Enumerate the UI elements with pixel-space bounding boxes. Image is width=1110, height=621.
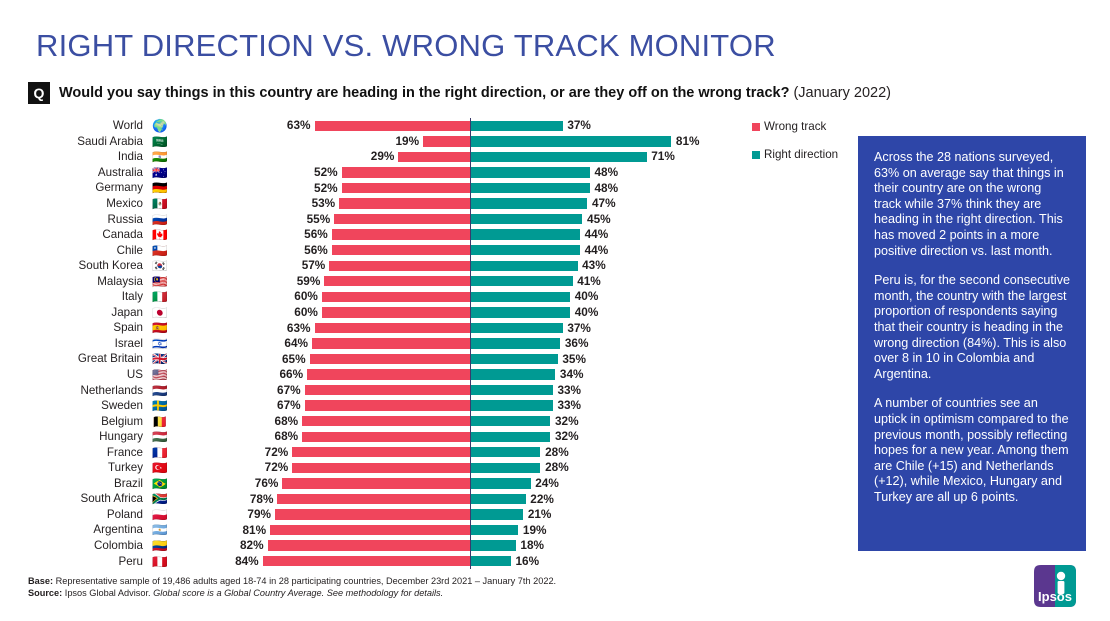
- country-flag-icon: 🇹🇷: [149, 461, 171, 474]
- country-flag-icon: 🇯🇵: [149, 306, 171, 319]
- legend-label: Wrong track: [764, 120, 826, 134]
- row-plot: 68%32%: [171, 413, 745, 429]
- right-direction-value: 40%: [575, 289, 599, 303]
- svg-text:Ipsos: Ipsos: [1038, 589, 1072, 604]
- country-flag-icon: 🇮🇳: [149, 150, 171, 163]
- footer-source-text: Ipsos Global Advisor.: [62, 588, 153, 598]
- country-label: Belgium: [0, 415, 149, 428]
- right-direction-value: 35%: [562, 352, 586, 366]
- country-flag-icon: 🇨🇦: [149, 228, 171, 241]
- chart-row: Japan🇯🇵60%40%: [0, 305, 745, 321]
- right-direction-bar: [471, 369, 555, 379]
- chart-row: Sweden🇸🇪67%33%: [0, 398, 745, 414]
- country-flag-icon: 🇦🇷: [149, 523, 171, 536]
- chart-row: Malaysia🇲🇾59%41%: [0, 273, 745, 289]
- row-plot: 52%48%: [171, 180, 745, 196]
- country-label: Chile: [0, 244, 149, 257]
- center-axis-line: [470, 507, 471, 523]
- chart-row: Chile🇨🇱56%44%: [0, 242, 745, 258]
- center-axis-line: [470, 149, 471, 165]
- wrong-track-bar: [324, 276, 470, 286]
- right-direction-value: 16%: [515, 554, 539, 568]
- row-plot: 68%32%: [171, 429, 745, 445]
- right-direction-value: 47%: [592, 196, 616, 210]
- country-label: Canada: [0, 228, 149, 241]
- right-direction-bar: [471, 167, 589, 177]
- country-flag-icon: 🇫🇷: [149, 446, 171, 459]
- country-flag-icon: 🇮🇱: [149, 337, 171, 350]
- center-axis-line: [470, 180, 471, 196]
- right-direction-bar: [471, 183, 589, 193]
- wrong-track-value: 68%: [264, 414, 298, 428]
- wrong-track-value: 79%: [237, 507, 271, 521]
- page-title: RIGHT DIRECTION VS. WRONG TRACK MONITOR: [36, 28, 776, 64]
- ipsos-logo: Ipsos: [1030, 562, 1080, 612]
- teal-square-icon: [752, 151, 760, 159]
- wrong-track-bar: [322, 292, 470, 302]
- center-axis-line: [470, 553, 471, 569]
- chart-row: Netherlands🇳🇱67%33%: [0, 382, 745, 398]
- country-flag-icon: 🇭🇺: [149, 430, 171, 443]
- wrong-track-value: 81%: [232, 523, 266, 537]
- chart-row: Italy🇮🇹60%40%: [0, 289, 745, 305]
- chart-row: Australia🇦🇺52%48%: [0, 165, 745, 181]
- question-row: Q Would you say things in this country a…: [28, 82, 891, 104]
- legend-item[interactable]: Right direction: [752, 148, 847, 162]
- right-direction-bar: [471, 509, 523, 519]
- country-label: India: [0, 150, 149, 163]
- center-axis-line: [470, 413, 471, 429]
- country-label: Israel: [0, 337, 149, 350]
- commentary-paragraph: A number of countries see an uptick in o…: [874, 396, 1070, 505]
- chart-row: Hungary🇭🇺68%32%: [0, 429, 745, 445]
- country-label: Russia: [0, 213, 149, 226]
- slide-root: RIGHT DIRECTION VS. WRONG TRACK MONITOR …: [0, 0, 1110, 621]
- row-plot: 53%47%: [171, 196, 745, 212]
- right-direction-value: 21%: [528, 507, 552, 521]
- center-axis-line: [470, 273, 471, 289]
- wrong-track-value: 60%: [284, 289, 318, 303]
- wrong-track-bar: [263, 556, 470, 566]
- wrong-track-bar: [307, 369, 470, 379]
- country-label: Mexico: [0, 197, 149, 210]
- country-label: Italy: [0, 290, 149, 303]
- right-direction-value: 48%: [594, 181, 618, 195]
- center-axis-line: [470, 165, 471, 181]
- chart-row: Poland🇵🇱79%21%: [0, 507, 745, 523]
- chart-legend: Wrong trackRight direction: [752, 120, 847, 175]
- commentary-panel: Across the 28 nations surveyed, 63% on a…: [858, 136, 1086, 551]
- row-plot: 67%33%: [171, 398, 745, 414]
- chart-row: Israel🇮🇱64%36%: [0, 336, 745, 352]
- right-direction-bar: [471, 121, 562, 131]
- center-axis-line: [470, 382, 471, 398]
- country-flag-icon: 🇳🇱: [149, 384, 171, 397]
- row-plot: 76%24%: [171, 476, 745, 492]
- country-label: Turkey: [0, 461, 149, 474]
- wrong-track-bar: [315, 323, 470, 333]
- wrong-track-value: 56%: [294, 243, 328, 257]
- row-plot: 64%36%: [171, 336, 745, 352]
- row-plot: 67%33%: [171, 382, 745, 398]
- right-direction-bar: [471, 447, 540, 457]
- right-direction-bar: [471, 307, 570, 317]
- wrong-track-bar: [315, 121, 470, 131]
- wrong-track-bar: [292, 463, 470, 473]
- chart-row: Peru🇵🇪84%16%: [0, 553, 745, 569]
- wrong-track-value: 76%: [244, 476, 278, 490]
- wrong-track-bar: [332, 229, 470, 239]
- legend-item[interactable]: Wrong track: [752, 120, 847, 134]
- right-direction-bar: [471, 478, 530, 488]
- right-direction-bar: [471, 432, 550, 442]
- center-axis-line: [470, 538, 471, 554]
- center-axis-line: [470, 476, 471, 492]
- country-flag-icon: 🇧🇪: [149, 415, 171, 428]
- country-flag-icon: 🇲🇾: [149, 275, 171, 288]
- row-plot: 60%40%: [171, 289, 745, 305]
- wrong-track-value: 67%: [267, 398, 301, 412]
- wrong-track-bar: [329, 261, 470, 271]
- right-direction-value: 32%: [555, 429, 579, 443]
- wrong-track-bar: [305, 400, 470, 410]
- country-flag-icon: 🌍: [149, 119, 171, 132]
- right-direction-bar: [471, 463, 540, 473]
- row-plot: 79%21%: [171, 507, 745, 523]
- wrong-track-value: 82%: [230, 538, 264, 552]
- chart-row: Turkey🇹🇷72%28%: [0, 460, 745, 476]
- center-axis-line: [470, 429, 471, 445]
- right-direction-bar: [471, 385, 552, 395]
- right-direction-value: 81%: [676, 134, 700, 148]
- country-flag-icon: 🇮🇹: [149, 290, 171, 303]
- wrong-track-bar: [423, 136, 470, 146]
- footer-base-text: Representative sample of 19,486 adults a…: [53, 576, 556, 586]
- right-direction-bar: [471, 494, 525, 504]
- wrong-track-value: 19%: [385, 134, 419, 148]
- right-direction-value: 36%: [565, 336, 589, 350]
- right-direction-value: 71%: [651, 149, 675, 163]
- country-flag-icon: 🇷🇺: [149, 213, 171, 226]
- chart-row: Spain🇪🇸63%37%: [0, 320, 745, 336]
- center-axis-line: [470, 305, 471, 321]
- country-label: Sweden: [0, 399, 149, 412]
- row-plot: 82%18%: [171, 538, 745, 554]
- wrong-track-value: 84%: [225, 554, 259, 568]
- center-axis-line: [470, 398, 471, 414]
- right-direction-bar: [471, 276, 572, 286]
- right-direction-value: 33%: [557, 398, 581, 412]
- wrong-track-value: 64%: [274, 336, 308, 350]
- right-direction-value: 32%: [555, 414, 579, 428]
- wrong-track-value: 68%: [264, 429, 298, 443]
- country-flag-icon: 🇵🇪: [149, 555, 171, 568]
- right-direction-value: 18%: [520, 538, 544, 552]
- right-direction-value: 37%: [567, 321, 591, 335]
- wrong-track-bar: [282, 478, 470, 488]
- right-direction-bar: [471, 323, 562, 333]
- country-flag-icon: 🇺🇸: [149, 368, 171, 381]
- wrong-track-value: 56%: [294, 227, 328, 241]
- center-axis-line: [470, 460, 471, 476]
- wrong-track-bar: [322, 307, 470, 317]
- row-plot: 55%45%: [171, 211, 745, 227]
- wrong-track-bar: [302, 432, 470, 442]
- footer-source-italic: Global score is a Global Country Average…: [153, 588, 443, 598]
- right-direction-bar: [471, 525, 518, 535]
- chart-row: Belgium🇧🇪68%32%: [0, 413, 745, 429]
- chart-row: Canada🇨🇦56%44%: [0, 227, 745, 243]
- chart-row: Mexico🇲🇽53%47%: [0, 196, 745, 212]
- wrong-track-bar: [270, 525, 470, 535]
- country-flag-icon: 🇩🇪: [149, 181, 171, 194]
- wrong-track-value: 55%: [296, 212, 330, 226]
- right-direction-value: 34%: [560, 367, 584, 381]
- country-flag-icon: 🇨🇱: [149, 244, 171, 257]
- country-label: South Africa: [0, 492, 149, 505]
- row-plot: 52%48%: [171, 165, 745, 181]
- country-flag-icon: 🇨🇴: [149, 539, 171, 552]
- country-flag-icon: 🇰🇷: [149, 259, 171, 272]
- wrong-track-value: 66%: [269, 367, 303, 381]
- footer-source-label: Source:: [28, 588, 62, 598]
- chart-row: Brazil🇧🇷76%24%: [0, 476, 745, 492]
- right-direction-bar: [471, 245, 580, 255]
- commentary-paragraph: Peru is, for the second consecutive mont…: [874, 273, 1070, 382]
- right-direction-value: 43%: [582, 258, 606, 272]
- wrong-track-bar: [310, 354, 470, 364]
- country-flag-icon: 🇦🇺: [149, 166, 171, 179]
- row-plot: 66%34%: [171, 367, 745, 383]
- wrong-track-bar: [302, 416, 470, 426]
- country-flag-icon: 🇪🇸: [149, 321, 171, 334]
- footer-base-label: Base:: [28, 576, 53, 586]
- country-label: Germany: [0, 181, 149, 194]
- wrong-track-value: 52%: [304, 181, 338, 195]
- wrong-track-bar: [342, 167, 470, 177]
- center-axis-line: [470, 258, 471, 274]
- question-badge-icon: Q: [28, 82, 50, 104]
- center-axis-line: [470, 320, 471, 336]
- row-plot: 57%43%: [171, 258, 745, 274]
- question-main: Would you say things in this country are…: [59, 85, 789, 101]
- wrong-track-bar: [339, 198, 470, 208]
- row-plot: 59%41%: [171, 273, 745, 289]
- country-label: Malaysia: [0, 275, 149, 288]
- diverging-bar-chart: World🌍63%37%Saudi Arabia🇸🇦19%81%India🇮🇳2…: [0, 118, 745, 576]
- wrong-track-bar: [277, 494, 470, 504]
- chart-row: US🇺🇸66%34%: [0, 367, 745, 383]
- wrong-track-value: 63%: [277, 321, 311, 335]
- country-label: France: [0, 446, 149, 459]
- right-direction-bar: [471, 540, 515, 550]
- right-direction-value: 44%: [585, 243, 609, 257]
- footer-base-line: Base: Representative sample of 19,486 ad…: [28, 575, 556, 587]
- chart-row: Great Britain🇬🇧65%35%: [0, 351, 745, 367]
- center-axis-line: [470, 336, 471, 352]
- country-flag-icon: 🇸🇪: [149, 399, 171, 412]
- wrong-track-value: 57%: [291, 258, 325, 272]
- right-direction-value: 44%: [585, 227, 609, 241]
- center-axis-line: [470, 367, 471, 383]
- wrong-track-bar: [332, 245, 470, 255]
- wrong-track-bar: [305, 385, 470, 395]
- country-label: Hungary: [0, 430, 149, 443]
- legend-label: Right direction: [764, 148, 838, 162]
- center-axis-line: [470, 444, 471, 460]
- wrong-track-bar: [312, 338, 470, 348]
- wrong-track-value: 53%: [301, 196, 335, 210]
- row-plot: 72%28%: [171, 444, 745, 460]
- row-plot: 63%37%: [171, 320, 745, 336]
- right-direction-bar: [471, 214, 582, 224]
- right-direction-value: 48%: [594, 165, 618, 179]
- row-plot: 63%37%: [171, 118, 745, 134]
- right-direction-bar: [471, 229, 580, 239]
- wrong-track-value: 78%: [239, 492, 273, 506]
- right-direction-bar: [471, 354, 557, 364]
- country-flag-icon: 🇿🇦: [149, 492, 171, 505]
- wrong-track-bar: [398, 152, 470, 162]
- row-plot: 65%35%: [171, 351, 745, 367]
- right-direction-value: 28%: [545, 460, 569, 474]
- right-direction-bar: [471, 338, 560, 348]
- country-label: Peru: [0, 555, 149, 568]
- wrong-track-value: 63%: [277, 118, 311, 132]
- commentary-paragraph: Across the 28 nations surveyed, 63% on a…: [874, 150, 1070, 259]
- center-axis-line: [470, 491, 471, 507]
- chart-row: South Africa🇿🇦78%22%: [0, 491, 745, 507]
- country-label: Brazil: [0, 477, 149, 490]
- center-axis-line: [470, 242, 471, 258]
- right-direction-value: 22%: [530, 492, 554, 506]
- chart-row: France🇫🇷72%28%: [0, 444, 745, 460]
- wrong-track-value: 65%: [272, 352, 306, 366]
- row-plot: 81%19%: [171, 522, 745, 538]
- right-direction-value: 28%: [545, 445, 569, 459]
- center-axis-line: [470, 227, 471, 243]
- right-direction-value: 19%: [523, 523, 547, 537]
- right-direction-bar: [471, 261, 577, 271]
- country-flag-icon: 🇬🇧: [149, 352, 171, 365]
- right-direction-bar: [471, 152, 646, 162]
- center-axis-line: [470, 134, 471, 150]
- row-plot: 84%16%: [171, 553, 745, 569]
- chart-row: World🌍63%37%: [0, 118, 745, 134]
- row-plot: 56%44%: [171, 227, 745, 243]
- chart-row: Colombia🇨🇴82%18%: [0, 538, 745, 554]
- country-label: Poland: [0, 508, 149, 521]
- right-direction-value: 41%: [577, 274, 601, 288]
- country-label: Australia: [0, 166, 149, 179]
- wrong-track-value: 67%: [267, 383, 301, 397]
- wrong-track-bar: [268, 540, 470, 550]
- wrong-track-value: 72%: [254, 445, 288, 459]
- row-plot: 29%71%: [171, 149, 745, 165]
- country-label: Argentina: [0, 523, 149, 536]
- footer-source-line: Source: Ipsos Global Advisor. Global sco…: [28, 587, 556, 599]
- country-flag-icon: 🇲🇽: [149, 197, 171, 210]
- row-plot: 60%40%: [171, 305, 745, 321]
- wrong-track-bar: [275, 509, 470, 519]
- right-direction-value: 40%: [575, 305, 599, 319]
- chart-row: South Korea🇰🇷57%43%: [0, 258, 745, 274]
- right-direction-bar: [471, 198, 587, 208]
- center-axis-line: [470, 289, 471, 305]
- country-flag-icon: 🇸🇦: [149, 135, 171, 148]
- right-direction-bar: [471, 136, 671, 146]
- center-axis-line: [470, 522, 471, 538]
- country-flag-icon: 🇧🇷: [149, 477, 171, 490]
- wrong-track-value: 59%: [286, 274, 320, 288]
- wrong-track-value: 60%: [284, 305, 318, 319]
- footer-notes: Base: Representative sample of 19,486 ad…: [28, 575, 556, 600]
- country-flag-icon: 🇵🇱: [149, 508, 171, 521]
- country-label: South Korea: [0, 259, 149, 272]
- center-axis-line: [470, 196, 471, 212]
- right-direction-bar: [471, 292, 570, 302]
- row-plot: 56%44%: [171, 242, 745, 258]
- country-label: Japan: [0, 306, 149, 319]
- right-direction-value: 33%: [557, 383, 581, 397]
- chart-row: Saudi Arabia🇸🇦19%81%: [0, 134, 745, 150]
- row-plot: 78%22%: [171, 491, 745, 507]
- right-direction-value: 37%: [567, 118, 591, 132]
- chart-row: Germany🇩🇪52%48%: [0, 180, 745, 196]
- chart-row: Russia🇷🇺55%45%: [0, 211, 745, 227]
- country-label: Spain: [0, 321, 149, 334]
- chart-row: India🇮🇳29%71%: [0, 149, 745, 165]
- right-direction-bar: [471, 416, 550, 426]
- right-direction-bar: [471, 400, 552, 410]
- country-label: US: [0, 368, 149, 381]
- right-direction-value: 24%: [535, 476, 559, 490]
- right-direction-bar: [471, 556, 510, 566]
- wrong-track-bar: [342, 183, 470, 193]
- row-plot: 72%28%: [171, 460, 745, 476]
- wrong-track-bar: [292, 447, 470, 457]
- right-direction-value: 45%: [587, 212, 611, 226]
- row-plot: 19%81%: [171, 134, 745, 150]
- red-square-icon: [752, 123, 760, 131]
- center-axis-line: [470, 351, 471, 367]
- country-label: Saudi Arabia: [0, 135, 149, 148]
- center-axis-line: [470, 118, 471, 134]
- wrong-track-value: 29%: [360, 149, 394, 163]
- country-label: Colombia: [0, 539, 149, 552]
- country-label: World: [0, 119, 149, 132]
- country-label: Netherlands: [0, 384, 149, 397]
- chart-row: Argentina🇦🇷81%19%: [0, 522, 745, 538]
- wrong-track-bar: [334, 214, 470, 224]
- question-text: Would you say things in this country are…: [59, 85, 891, 101]
- wrong-track-value: 52%: [304, 165, 338, 179]
- wrong-track-value: 72%: [254, 460, 288, 474]
- question-date: (January 2022): [793, 85, 891, 101]
- center-axis-line: [470, 211, 471, 227]
- country-label: Great Britain: [0, 352, 149, 365]
